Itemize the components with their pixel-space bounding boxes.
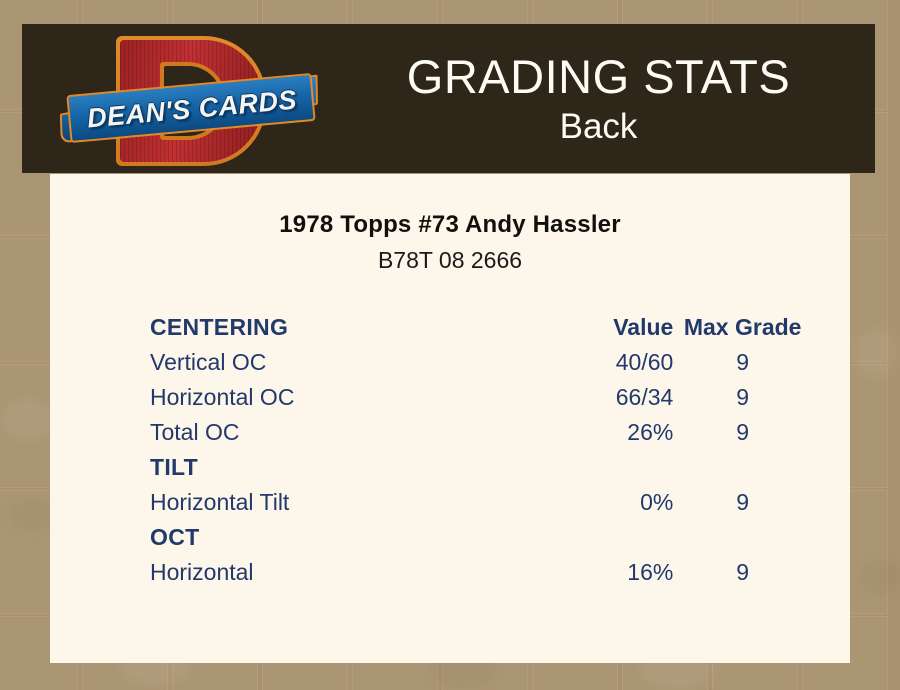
stats-row-label: Horizontal	[150, 555, 519, 590]
stats-row: Vertical OC40/609	[150, 345, 810, 380]
stats-row-value: 16%	[519, 555, 676, 590]
deans-cards-logo[interactable]: DEAN'S CARDS	[60, 30, 322, 170]
stats-row-max-grade: 9	[675, 380, 810, 415]
page-title: GRADING STATS	[407, 50, 790, 104]
stats-row-value: 0%	[519, 485, 676, 520]
stats-row-label: Horizontal OC	[150, 380, 519, 415]
stats-row-max-grade: 9	[675, 345, 810, 380]
stats-section-value-spacer	[519, 520, 676, 555]
header-title-group: GRADING STATS Back	[322, 24, 875, 173]
stats-row-max-grade: 9	[675, 415, 810, 450]
stats-row-value: 40/60	[519, 345, 676, 380]
content-panel: 1978 Topps #73 Andy Hassler B78T 08 2666…	[50, 174, 850, 663]
stats-row-max-grade: 9	[675, 485, 810, 520]
stats-section-row: TILT	[150, 450, 810, 485]
stats-section-grade-spacer	[675, 520, 810, 555]
header-bar: DEAN'S CARDS GRADING STATS Back	[22, 24, 875, 173]
stats-row: Horizontal16%9	[150, 555, 810, 590]
card-serial-number: B78T 08 2666	[50, 247, 850, 274]
logo-ribbon-icon: DEAN'S CARDS	[60, 76, 322, 142]
stats-section-name: TILT	[150, 450, 519, 485]
stats-row: Total OC26%9	[150, 415, 810, 450]
stats-section-value-spacer	[519, 450, 676, 485]
stats-row-label: Vertical OC	[150, 345, 519, 380]
stats-row-label: Total OC	[150, 415, 519, 450]
stats-row-max-grade: 9	[675, 555, 810, 590]
stats-section-row: OCT	[150, 520, 810, 555]
stats-section-grade-spacer	[675, 450, 810, 485]
column-header-value: Value	[519, 310, 676, 345]
stats-section-name: CENTERING	[150, 310, 519, 345]
stats-row-value: 66/34	[519, 380, 676, 415]
page-subtitle: Back	[560, 106, 638, 148]
stats-section-row: CENTERINGValueMax Grade	[150, 310, 810, 345]
grading-stats-table: CENTERINGValueMax GradeVertical OC40/609…	[150, 310, 810, 590]
column-header-max-grade: Max Grade	[675, 310, 810, 345]
stats-row: Horizontal OC66/349	[150, 380, 810, 415]
stats-row-label: Horizontal Tilt	[150, 485, 519, 520]
stats-section-name: OCT	[150, 520, 519, 555]
stats-row-value: 26%	[519, 415, 676, 450]
card-title: 1978 Topps #73 Andy Hassler	[50, 211, 850, 239]
stats-row: Horizontal Tilt0%9	[150, 485, 810, 520]
